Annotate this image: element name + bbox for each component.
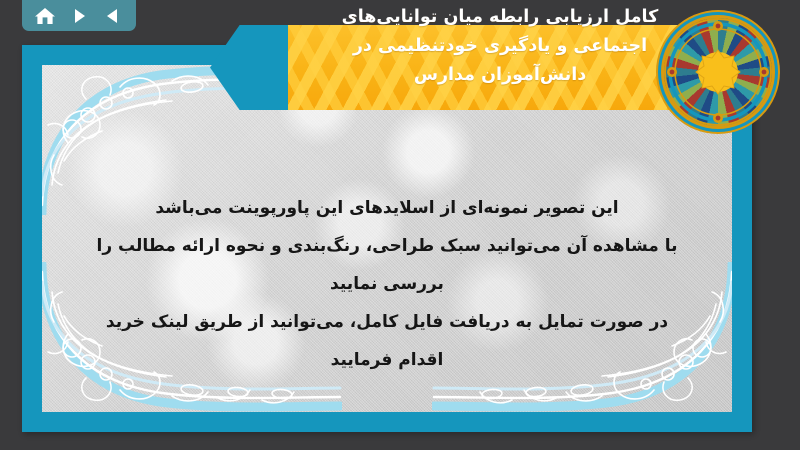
home-icon	[34, 6, 56, 26]
page-title: کامل ارزیابی رابطه میان توانایی‌های اجتم…	[270, 3, 730, 90]
ornamental-medallion-icon	[664, 18, 772, 126]
slide-body-text: این تصویر نمونه‌ای از اسلایدهای این پاور…	[42, 189, 732, 379]
slide-preview-stage: این تصویر نمونه‌ای از اسلایدهای این پاور…	[0, 0, 800, 450]
triangle-left-icon	[104, 7, 122, 25]
slide-canvas: این تصویر نمونه‌ای از اسلایدهای این پاور…	[42, 65, 732, 412]
triangle-right-icon	[70, 7, 88, 25]
home-button[interactable]	[31, 3, 59, 29]
navigation-bar	[22, 0, 136, 31]
back-button[interactable]	[99, 3, 127, 29]
title-banner: کامل ارزیابی رابطه میان توانایی‌های اجتم…	[210, 25, 735, 110]
forward-button[interactable]	[65, 3, 93, 29]
